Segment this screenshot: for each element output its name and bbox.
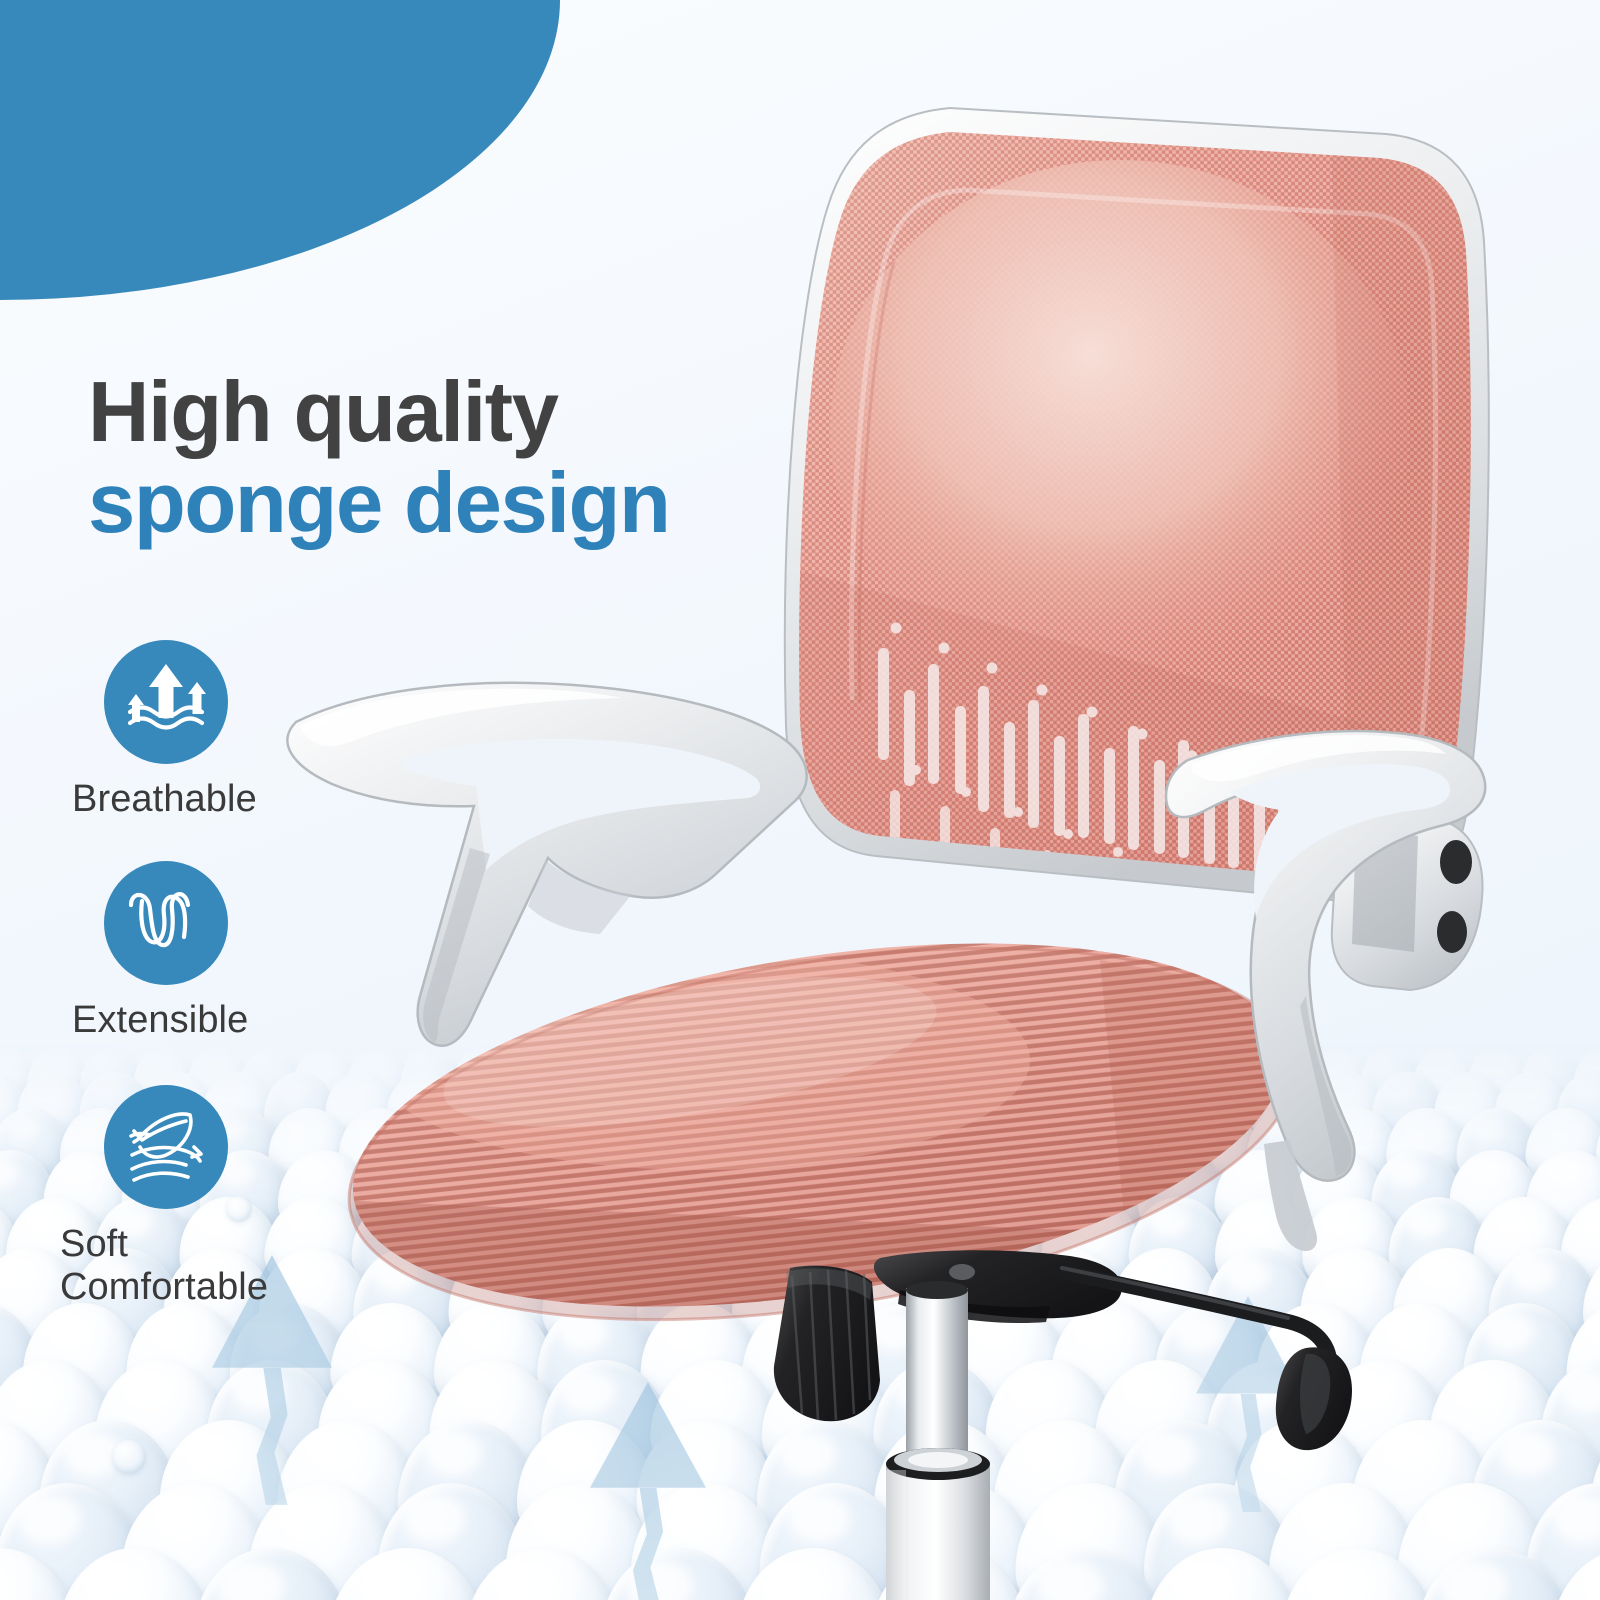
feature-list: Breathable Extensible xyxy=(0,640,360,1314)
feature-label: Soft Comfortable xyxy=(60,1223,360,1308)
foam-bump xyxy=(1276,1545,1439,1600)
foam-bump xyxy=(0,1548,78,1600)
feature-label: Extensible xyxy=(72,999,360,1042)
backrest xyxy=(760,100,1500,990)
headline-block: High quality sponge design xyxy=(88,371,848,546)
arrow-tail xyxy=(256,1368,287,1505)
arrow-tail xyxy=(1234,1394,1261,1513)
arrow-head xyxy=(590,1382,706,1488)
foam-bump xyxy=(866,1543,1034,1600)
airflow-arrow-center xyxy=(590,1382,706,1600)
feature-soft-comfortable: Soft Comfortable xyxy=(0,1085,360,1308)
extensible-spring-coil-icon xyxy=(104,861,228,985)
product-banner: High quality sponge design Breath xyxy=(0,0,1600,1600)
feather-on-layers-icon xyxy=(104,1085,228,1209)
foam-bump xyxy=(731,1544,897,1600)
arrow-head xyxy=(1196,1296,1300,1394)
lumbar-slats xyxy=(878,623,1411,913)
airflow-arrow-right xyxy=(1196,1296,1300,1508)
feature-extensible: Extensible xyxy=(0,861,360,1042)
foam-bump xyxy=(1143,1548,1301,1600)
feature-label: Breathable xyxy=(72,778,360,821)
foam-bump xyxy=(187,1543,355,1600)
left-armrest xyxy=(287,683,806,1046)
foam-droplet xyxy=(112,1440,146,1474)
backrest-right-mount xyxy=(1332,816,1483,990)
feature-label-line-2: Comfortable xyxy=(60,1266,360,1309)
foam-bump xyxy=(1410,1543,1578,1600)
breathable-arrows-waves-icon xyxy=(104,640,228,764)
blue-corner-shape xyxy=(0,0,560,300)
foam-row xyxy=(0,1548,1600,1600)
headline-line-1: High quality xyxy=(88,371,848,455)
foam-bump xyxy=(53,1545,216,1600)
headline-line-2: sponge design xyxy=(88,461,848,546)
foam-bump xyxy=(1005,1545,1168,1600)
feature-breathable: Breathable xyxy=(0,640,360,821)
arrow-tail xyxy=(633,1488,663,1600)
foam-bump xyxy=(324,1544,490,1600)
feature-label-line-1: Soft xyxy=(60,1223,360,1266)
